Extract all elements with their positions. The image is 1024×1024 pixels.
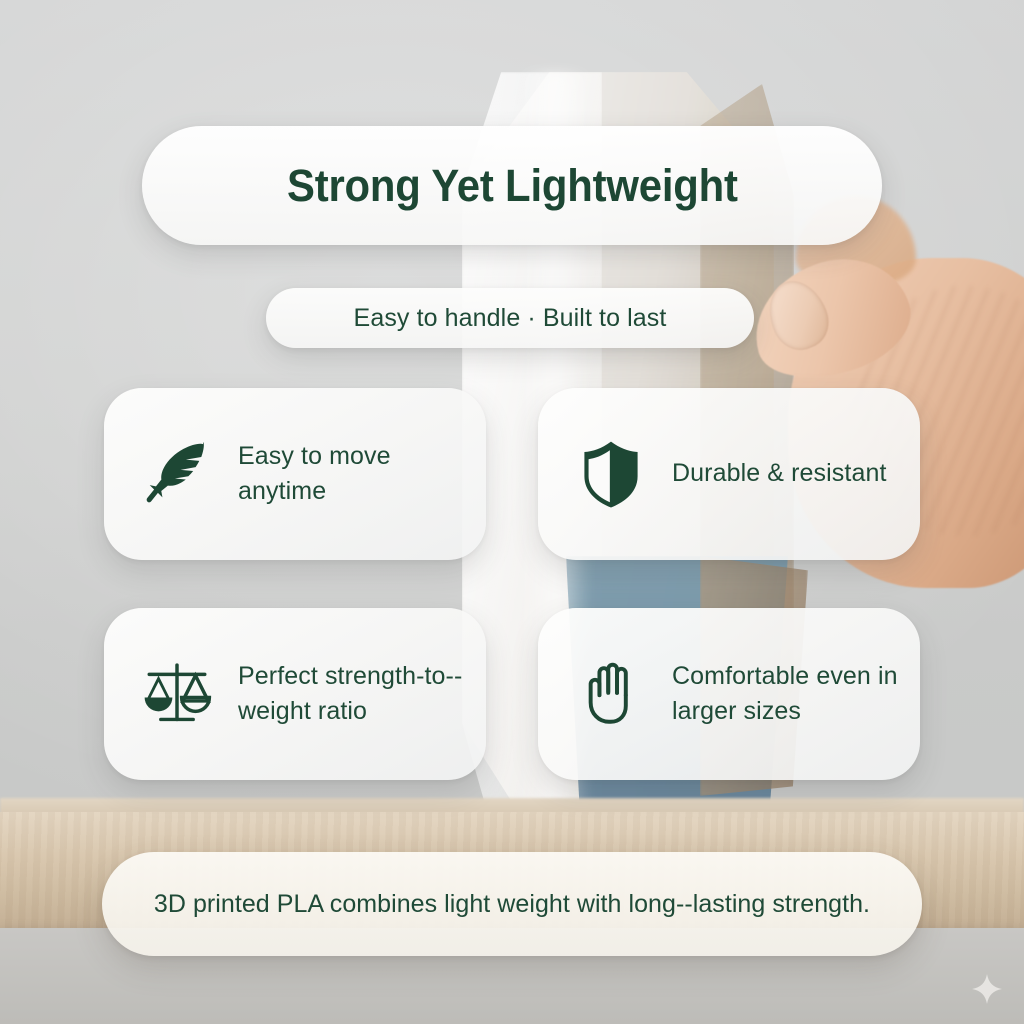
shield-icon (572, 435, 650, 513)
feature-label: Comfortable even in larger sizes (672, 659, 898, 730)
subtitle-banner: Easy to handle · Built to last (266, 288, 754, 348)
feather-icon (138, 435, 216, 513)
footer-text: 3D printed PLA combines light weight wit… (154, 886, 870, 922)
feature-card-easy-to-move[interactable]: Easy to move anytime (104, 388, 486, 560)
open-hand-icon (572, 655, 650, 733)
feature-label: Easy to move anytime (238, 439, 464, 510)
feature-card-durable-resistant[interactable]: Durable & resistant (538, 388, 920, 560)
footer-banner: 3D printed PLA combines light weight wit… (102, 852, 922, 956)
feature-label: Durable & resistant (672, 456, 887, 492)
title-banner: Strong Yet Lightweight (142, 126, 882, 245)
page-title: Strong Yet Lightweight (287, 160, 738, 212)
infographic-overlay: Strong Yet Lightweight Easy to handle · … (0, 0, 1024, 1024)
feature-label: Perfect strength-to--weight ratio (238, 659, 464, 730)
feature-grid: Easy to move anytime Durable & resistant (104, 388, 920, 780)
feature-card-strength-to-weight[interactable]: Perfect strength-to--weight ratio (104, 608, 486, 780)
feature-card-comfortable-larger-sizes[interactable]: Comfortable even in larger sizes (538, 608, 920, 780)
page-subtitle: Easy to handle · Built to last (354, 304, 667, 333)
balance-scale-icon (138, 655, 216, 733)
